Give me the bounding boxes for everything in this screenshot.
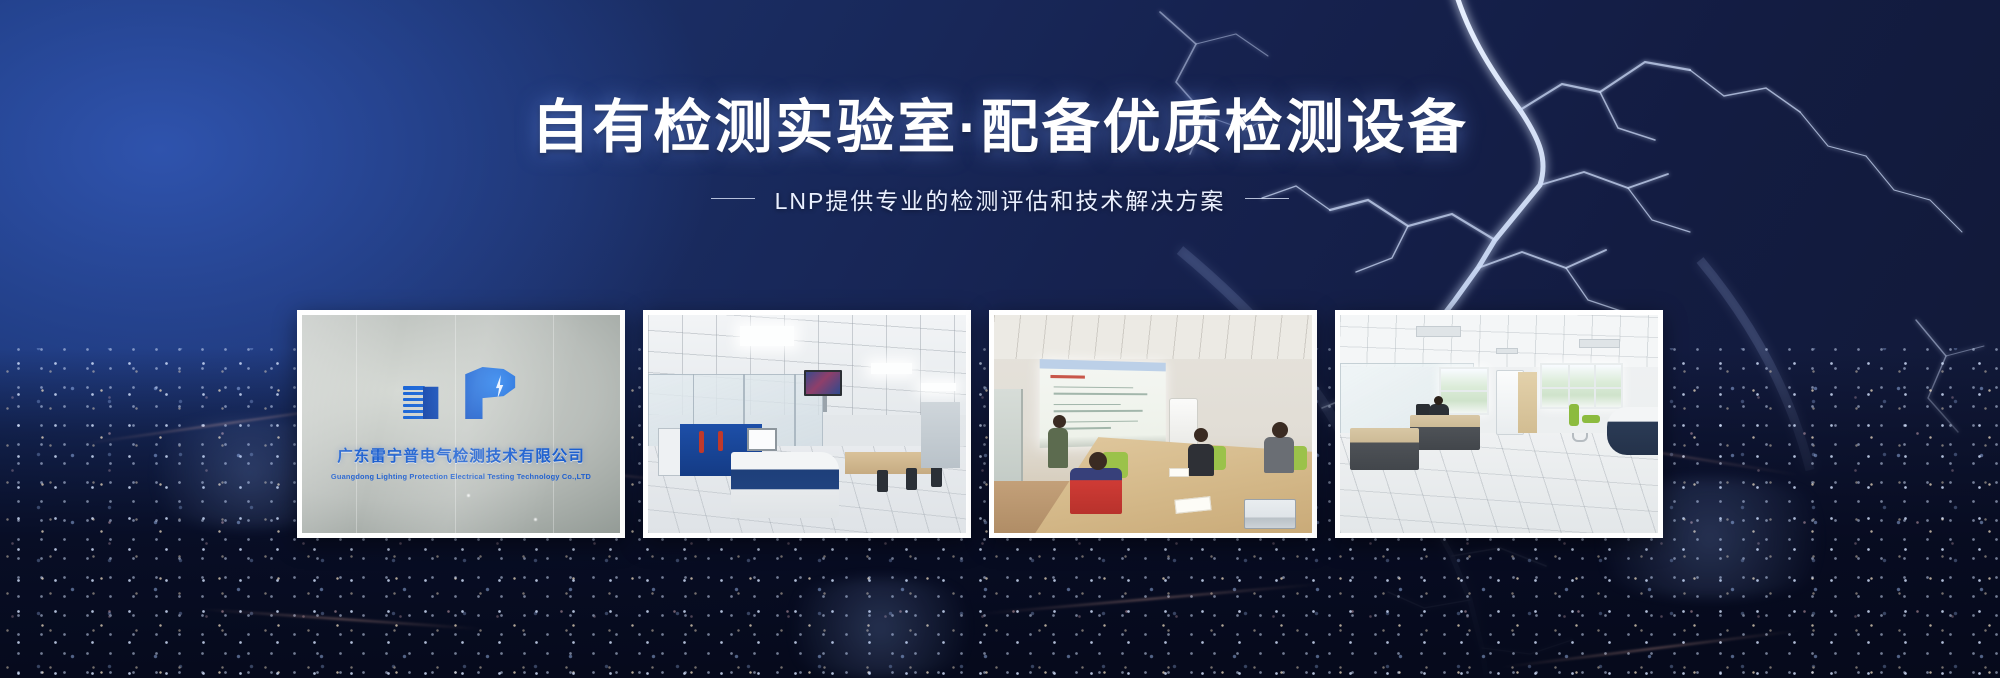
attendee-person-grey: [1264, 437, 1294, 473]
page-subtitle: LNP提供专业的检测评估和技术解决方案: [775, 182, 1226, 216]
insulator-red: [699, 431, 704, 453]
rear-cabinet: [921, 402, 959, 467]
gallery-photo-laboratory[interactable]: [643, 310, 971, 538]
attendee-head: [1194, 428, 1208, 442]
hero-headline-block: 自有检测实验室·配备优质检测设备 LNP提供专业的检测评估和技术解决方案: [0, 96, 2000, 216]
ceiling-light-panel: [871, 363, 912, 374]
document-on-table: [1169, 468, 1189, 477]
slide-line: [1053, 403, 1120, 405]
ceiling-light-panel: [740, 326, 794, 346]
office-chair: [877, 470, 888, 492]
presenter-person: [1048, 428, 1068, 468]
reception-counter: [1607, 407, 1658, 455]
city-glow: [760, 578, 1000, 678]
control-console: [731, 452, 839, 517]
subtitle-row: LNP提供专业的检测评估和技术解决方案: [0, 182, 2000, 216]
window-bar: [1441, 390, 1488, 392]
rule-left-icon: [711, 198, 755, 199]
photo-gallery-strip: 广东雷宁普电气检测技术有限公司 Guangdong Lighting Prote…: [297, 310, 1663, 538]
office-chair: [906, 468, 917, 490]
green-visitor-chair: [1582, 415, 1600, 423]
wood-shelving: [1518, 372, 1537, 433]
page-title: 自有检测实验室·配备优质检测设备: [0, 96, 2000, 160]
laboratory-image: [648, 315, 966, 533]
slide-line: [1053, 410, 1142, 412]
attendee-person-dark: [1188, 444, 1214, 476]
tv-mount: [823, 396, 827, 412]
slide-heading: [1050, 375, 1084, 379]
meeting-room-image: [994, 315, 1312, 533]
chair-base: [1572, 433, 1588, 442]
window-bar: [1542, 387, 1621, 389]
work-desk: [1410, 415, 1480, 450]
slide-line: [1053, 393, 1147, 395]
gallery-photo-office[interactable]: [1335, 310, 1663, 538]
office-image: [1340, 315, 1658, 533]
rule-right-icon: [1245, 198, 1289, 199]
ceiling-vent: [1496, 348, 1518, 355]
hero-banner: 自有检测实验室·配备优质检测设备 LNP提供专业的检测评估和技术解决方案: [0, 0, 2000, 678]
work-desk: [1350, 428, 1420, 469]
gallery-photo-logo-wall[interactable]: 广东雷宁普电气检测技术有限公司 Guangdong Lighting Prote…: [297, 310, 625, 538]
attendee-head: [1272, 422, 1288, 438]
ceiling-light-panel: [921, 383, 956, 392]
ceiling-vent: [1579, 339, 1620, 348]
wall-monitor: [804, 370, 842, 396]
logo-wall-image: 广东雷宁普电气检测技术有限公司 Guangdong Lighting Prote…: [302, 315, 620, 533]
slide-title-bar: [1039, 359, 1165, 371]
insulator-red: [718, 431, 723, 451]
glass-door: [994, 389, 1023, 485]
slide-line: [1053, 386, 1132, 389]
attendee-person-red: [1070, 468, 1122, 514]
gallery-photo-meeting-room[interactable]: [989, 310, 1317, 538]
ceiling-grid: [994, 315, 1312, 359]
window: [1540, 363, 1623, 409]
green-visitor-chair: [1569, 404, 1579, 426]
office-chair: [931, 465, 942, 487]
laptop: [1244, 499, 1296, 529]
wall-sheen: [302, 315, 620, 533]
ceiling-vent: [1416, 326, 1461, 337]
control-desk-monitor: [747, 428, 777, 451]
employee-head: [1434, 396, 1443, 405]
